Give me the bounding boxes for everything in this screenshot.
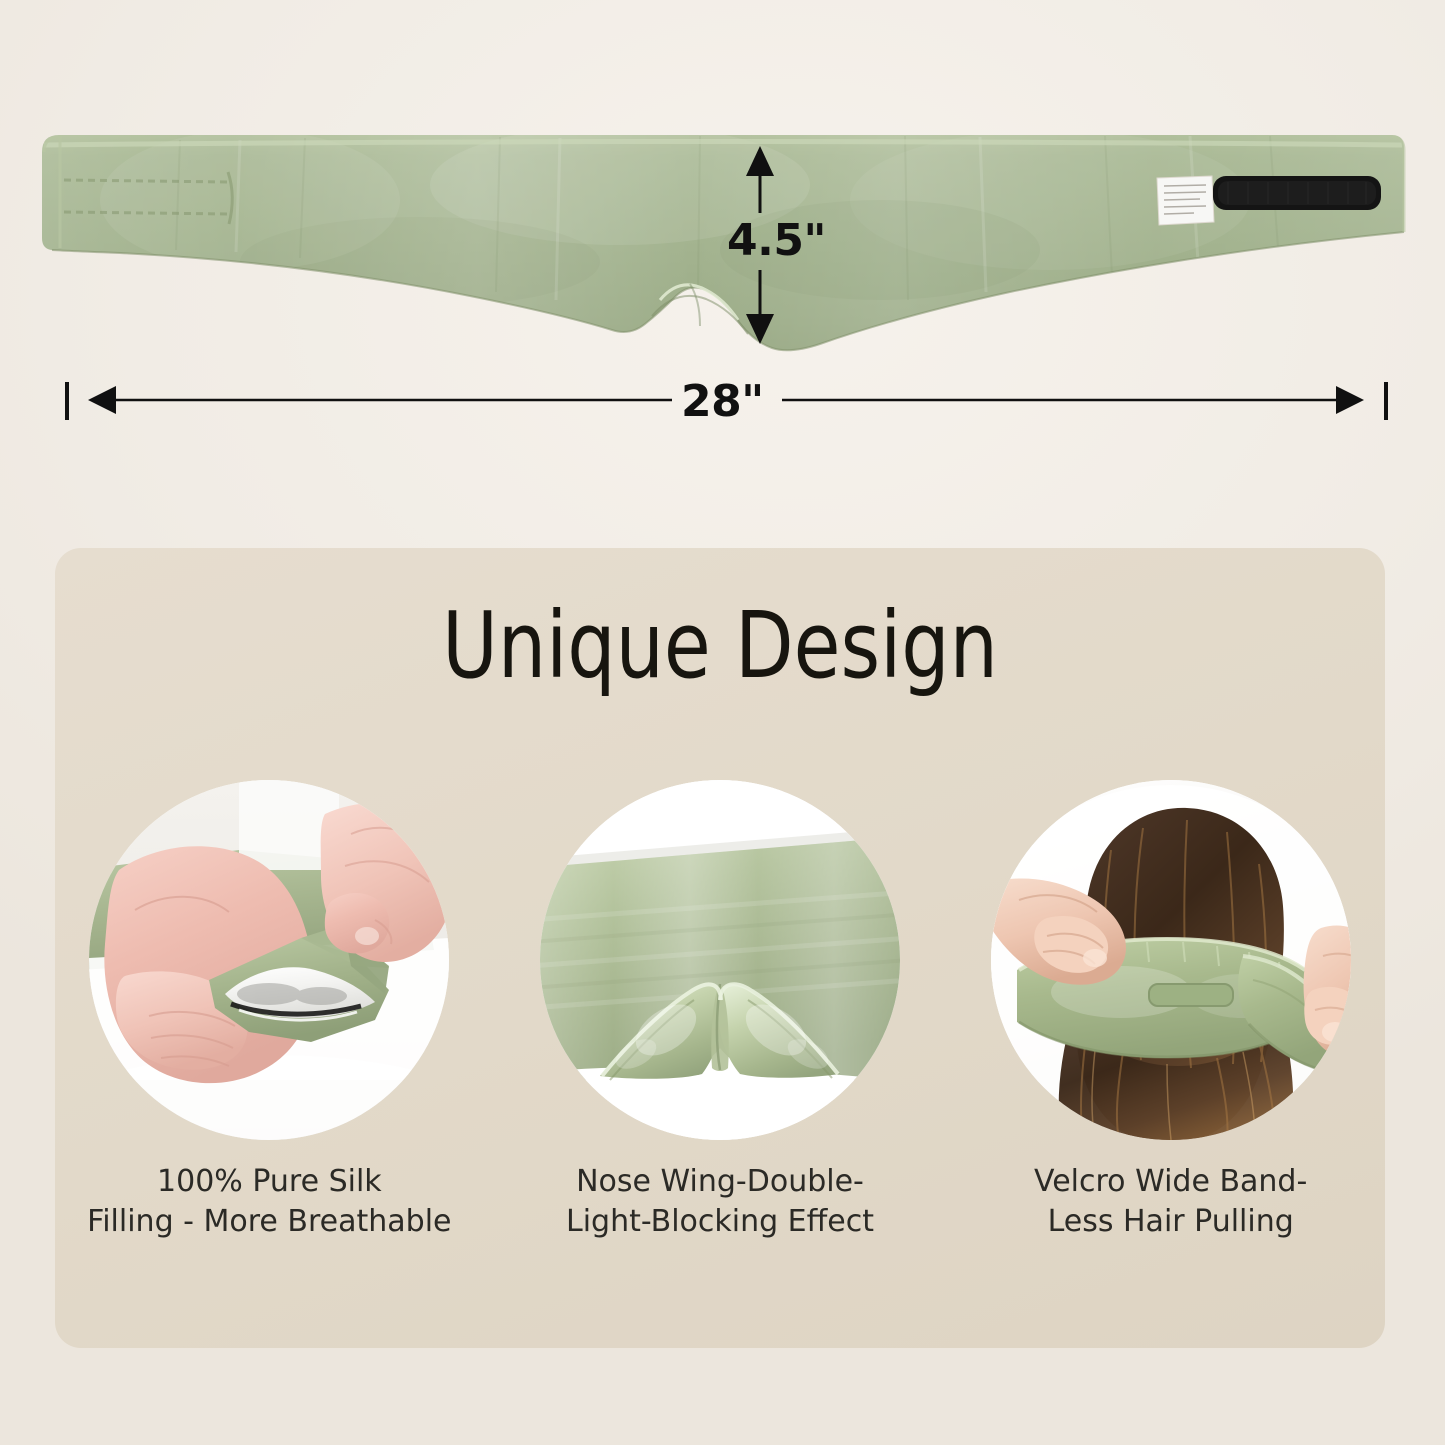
feature-photo-silk-filling: [89, 780, 449, 1140]
feature-list: 100% Pure Silk Filling - More Breathable: [55, 780, 1385, 1241]
width-dimension-label: 28": [681, 376, 764, 427]
feature-photo-nose-wing: [540, 780, 900, 1140]
feature-caption: Nose Wing-Double- Light-Blocking Effect: [534, 1162, 907, 1241]
feature-caption: 100% Pure Silk Filling - More Breathable: [83, 1162, 456, 1241]
height-dimension-label: 4.5": [727, 215, 826, 266]
velcro-tab: [1149, 984, 1233, 1006]
hero-product-section: 4.5" 28": [0, 0, 1445, 520]
page-title: Unique Design: [108, 600, 1332, 692]
hands-holding-mask-illustration: [89, 780, 449, 1140]
feature-velcro-band[interactable]: Velcro Wide Band- Less Hair Pulling: [984, 780, 1357, 1241]
feature-caption: Velcro Wide Band- Less Hair Pulling: [984, 1162, 1357, 1241]
feature-silk-filling[interactable]: 100% Pure Silk Filling - More Breathable: [83, 780, 456, 1241]
infographic-root: 4.5" 28" Unique Design: [0, 0, 1445, 1445]
unique-design-panel: Unique Design: [55, 548, 1385, 1348]
dimension-annotations: [0, 0, 1445, 520]
feature-nose-wing[interactable]: Nose Wing-Double- Light-Blocking Effect: [534, 780, 907, 1241]
feature-photo-velcro-band: [991, 780, 1351, 1140]
woman-fastening-band-illustration: [991, 780, 1351, 1140]
nose-wing-closeup-illustration: [540, 780, 900, 1140]
